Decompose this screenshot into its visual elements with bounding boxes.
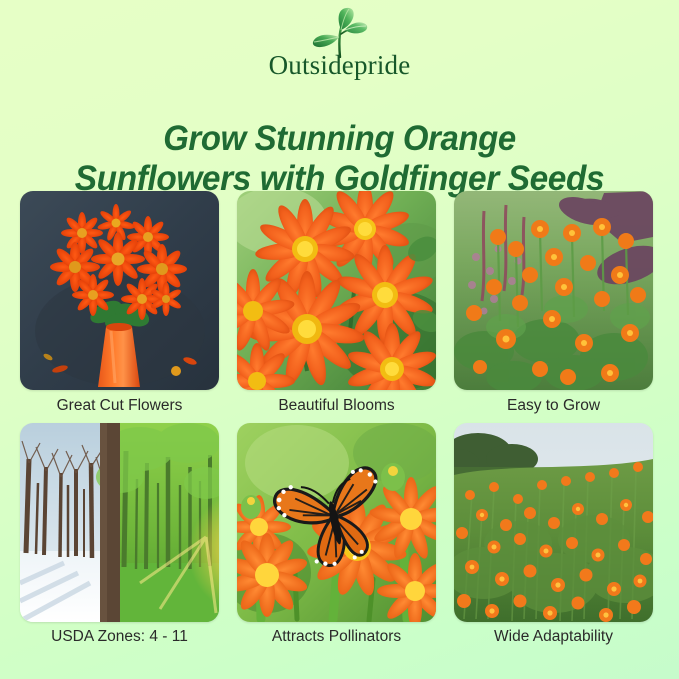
gallery-caption: USDA Zones: 4 - 11	[51, 628, 188, 646]
gallery-item-wide-adaptability: Wide Adaptability	[454, 423, 653, 646]
image-monarch-butterfly	[237, 423, 436, 622]
image-garden-meadow	[454, 191, 653, 390]
gallery-item-beautiful-blooms: Beautiful Blooms	[237, 191, 436, 415]
thumbnail-beautiful-blooms	[237, 191, 436, 390]
image-winter-summer-forest	[20, 423, 219, 622]
image-cut-flowers-vase	[20, 191, 219, 390]
feature-gallery-grid: Great Cut Flowers	[20, 191, 659, 646]
brand-name: Outsidepride	[269, 52, 411, 79]
gallery-caption: Easy to Grow	[507, 397, 600, 415]
gallery-caption: Beautiful Blooms	[278, 397, 394, 415]
thumbnail-attracts-pollinators	[237, 423, 436, 622]
thumbnail-usda-zones	[20, 423, 219, 622]
gallery-caption: Wide Adaptability	[494, 628, 613, 646]
gallery-item-attracts-pollinators: Attracts Pollinators	[237, 423, 436, 646]
gallery-item-usda-zones: USDA Zones: 4 - 11	[20, 423, 219, 646]
gallery-item-easy-to-grow: Easy to Grow	[454, 191, 653, 415]
gallery-item-great-cut-flowers: Great Cut Flowers	[20, 191, 219, 415]
image-orange-blooms-closeup	[237, 191, 436, 390]
gallery-caption: Great Cut Flowers	[57, 397, 183, 415]
page-title: Grow Stunning Orange Sunflowers with Gol…	[20, 119, 658, 198]
gallery-caption: Attracts Pollinators	[272, 628, 401, 646]
title-line-1: Grow Stunning Orange	[163, 119, 516, 158]
thumbnail-wide-adaptability	[454, 423, 653, 622]
brand-logo: Outsidepride	[0, 6, 679, 79]
thumbnail-easy-to-grow	[454, 191, 653, 390]
product-infographic-poster: Outsidepride Grow Stunning Orange Sunflo…	[0, 0, 679, 679]
image-orange-flower-field	[454, 423, 653, 622]
thumbnail-great-cut-flowers	[20, 191, 219, 390]
